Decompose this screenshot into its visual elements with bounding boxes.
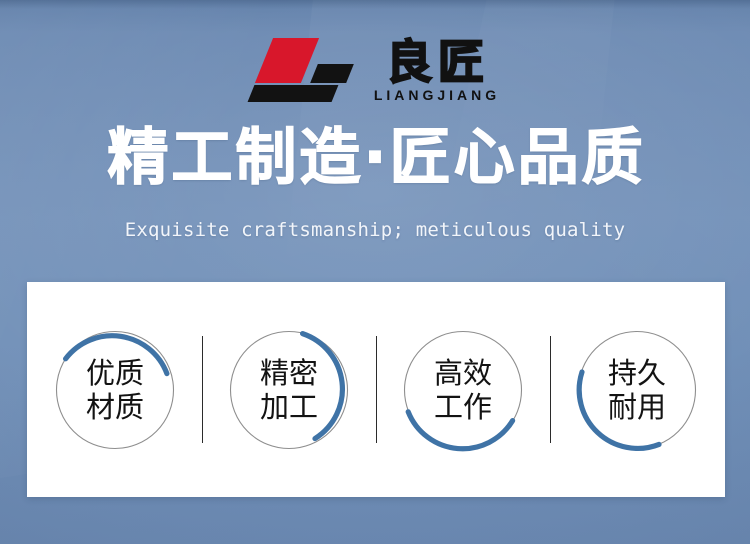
feature-label: 精密加工 [258, 356, 320, 424]
feature-divider [376, 336, 377, 443]
feature-item-precision-machining: 精密加工 [227, 328, 351, 452]
feature-card: 优质材质 精密加工 高效工作 [27, 282, 725, 497]
feature-divider [202, 336, 203, 443]
logo-chinese-name: 良匠 [380, 37, 490, 87]
background-top-band [0, 0, 750, 9]
logo-red-parallelogram [255, 38, 319, 83]
liangjiang-logo-mark-icon [250, 38, 356, 100]
headline-title: 精工制造·匠心品质 [0, 123, 750, 193]
feature-label: 优质材质 [84, 356, 146, 424]
logo-black-bar-parallelogram [247, 85, 338, 102]
feature-divider [550, 336, 551, 443]
feature-item-efficient-work: 高效工作 [401, 328, 525, 452]
logo-english-name: LIANGJIANG [370, 88, 500, 103]
headline-subtitle: Exquisite craftsmanship; meticulous qual… [0, 218, 750, 242]
logo-black-small-parallelogram [310, 64, 354, 83]
feature-item-long-lasting: 持久耐用 [575, 328, 699, 452]
feature-label: 持久耐用 [606, 356, 668, 424]
feature-item-quality-material: 优质材质 [53, 328, 177, 452]
brand-logo: 良匠 LIANGJIANG [0, 36, 750, 103]
promo-banner: 良匠 LIANGJIANG 精工制造·匠心品质 Exquisite crafts… [0, 0, 750, 544]
feature-label: 高效工作 [432, 356, 494, 424]
